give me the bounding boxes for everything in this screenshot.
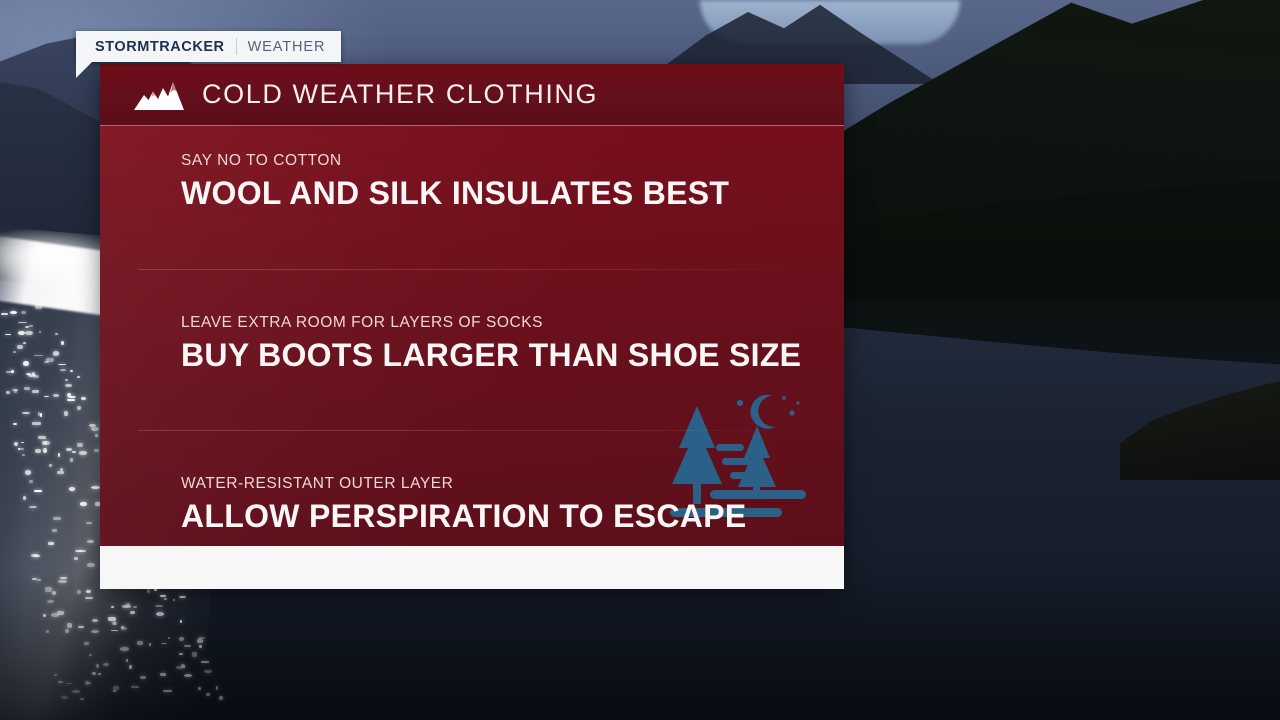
tip-item: SAY NO TO COTTON WOOL AND SILK INSULATES…: [100, 152, 844, 211]
tip-headline: BUY BOOTS LARGER THAN SHOE SIZE: [181, 339, 844, 373]
card-header: COLD WEATHER CLOTHING: [100, 64, 844, 126]
station-logo-tab: STORMTRACKER WEATHER: [76, 31, 341, 62]
tip-spacer: [100, 270, 844, 314]
tip-headline: WOOL AND SILK INSULATES BEST: [181, 177, 844, 211]
tip-item: WATER-RESISTANT OUTER LAYER ALLOW PERSPI…: [100, 475, 844, 534]
tip-headline: ALLOW PERSPIRATION TO ESCAPE: [181, 500, 844, 534]
tip-divider: [138, 269, 806, 270]
card-title: COLD WEATHER CLOTHING: [202, 79, 598, 110]
mountain-icon: [132, 79, 186, 111]
card-body: SAY NO TO COTTON WOOL AND SILK INSULATES…: [100, 126, 844, 546]
station-section-label: WEATHER: [248, 39, 326, 55]
tip-spacer: [100, 211, 844, 269]
tip-divider: [138, 430, 806, 431]
card-footer: [100, 546, 844, 589]
bottom-vignette: [0, 570, 1280, 720]
tip-subtitle: SAY NO TO COTTON: [181, 152, 844, 170]
logo-divider: [236, 38, 237, 55]
station-brand-label: STORMTRACKER: [95, 39, 225, 55]
tip-item: LEAVE EXTRA ROOM FOR LAYERS OF SOCKS BUY…: [100, 314, 844, 373]
tip-subtitle: LEAVE EXTRA ROOM FOR LAYERS OF SOCKS: [181, 314, 844, 332]
cold-weather-clothing-card: COLD WEATHER CLOTHING: [100, 64, 844, 589]
tip-subtitle: WATER-RESISTANT OUTER LAYER: [181, 475, 844, 493]
